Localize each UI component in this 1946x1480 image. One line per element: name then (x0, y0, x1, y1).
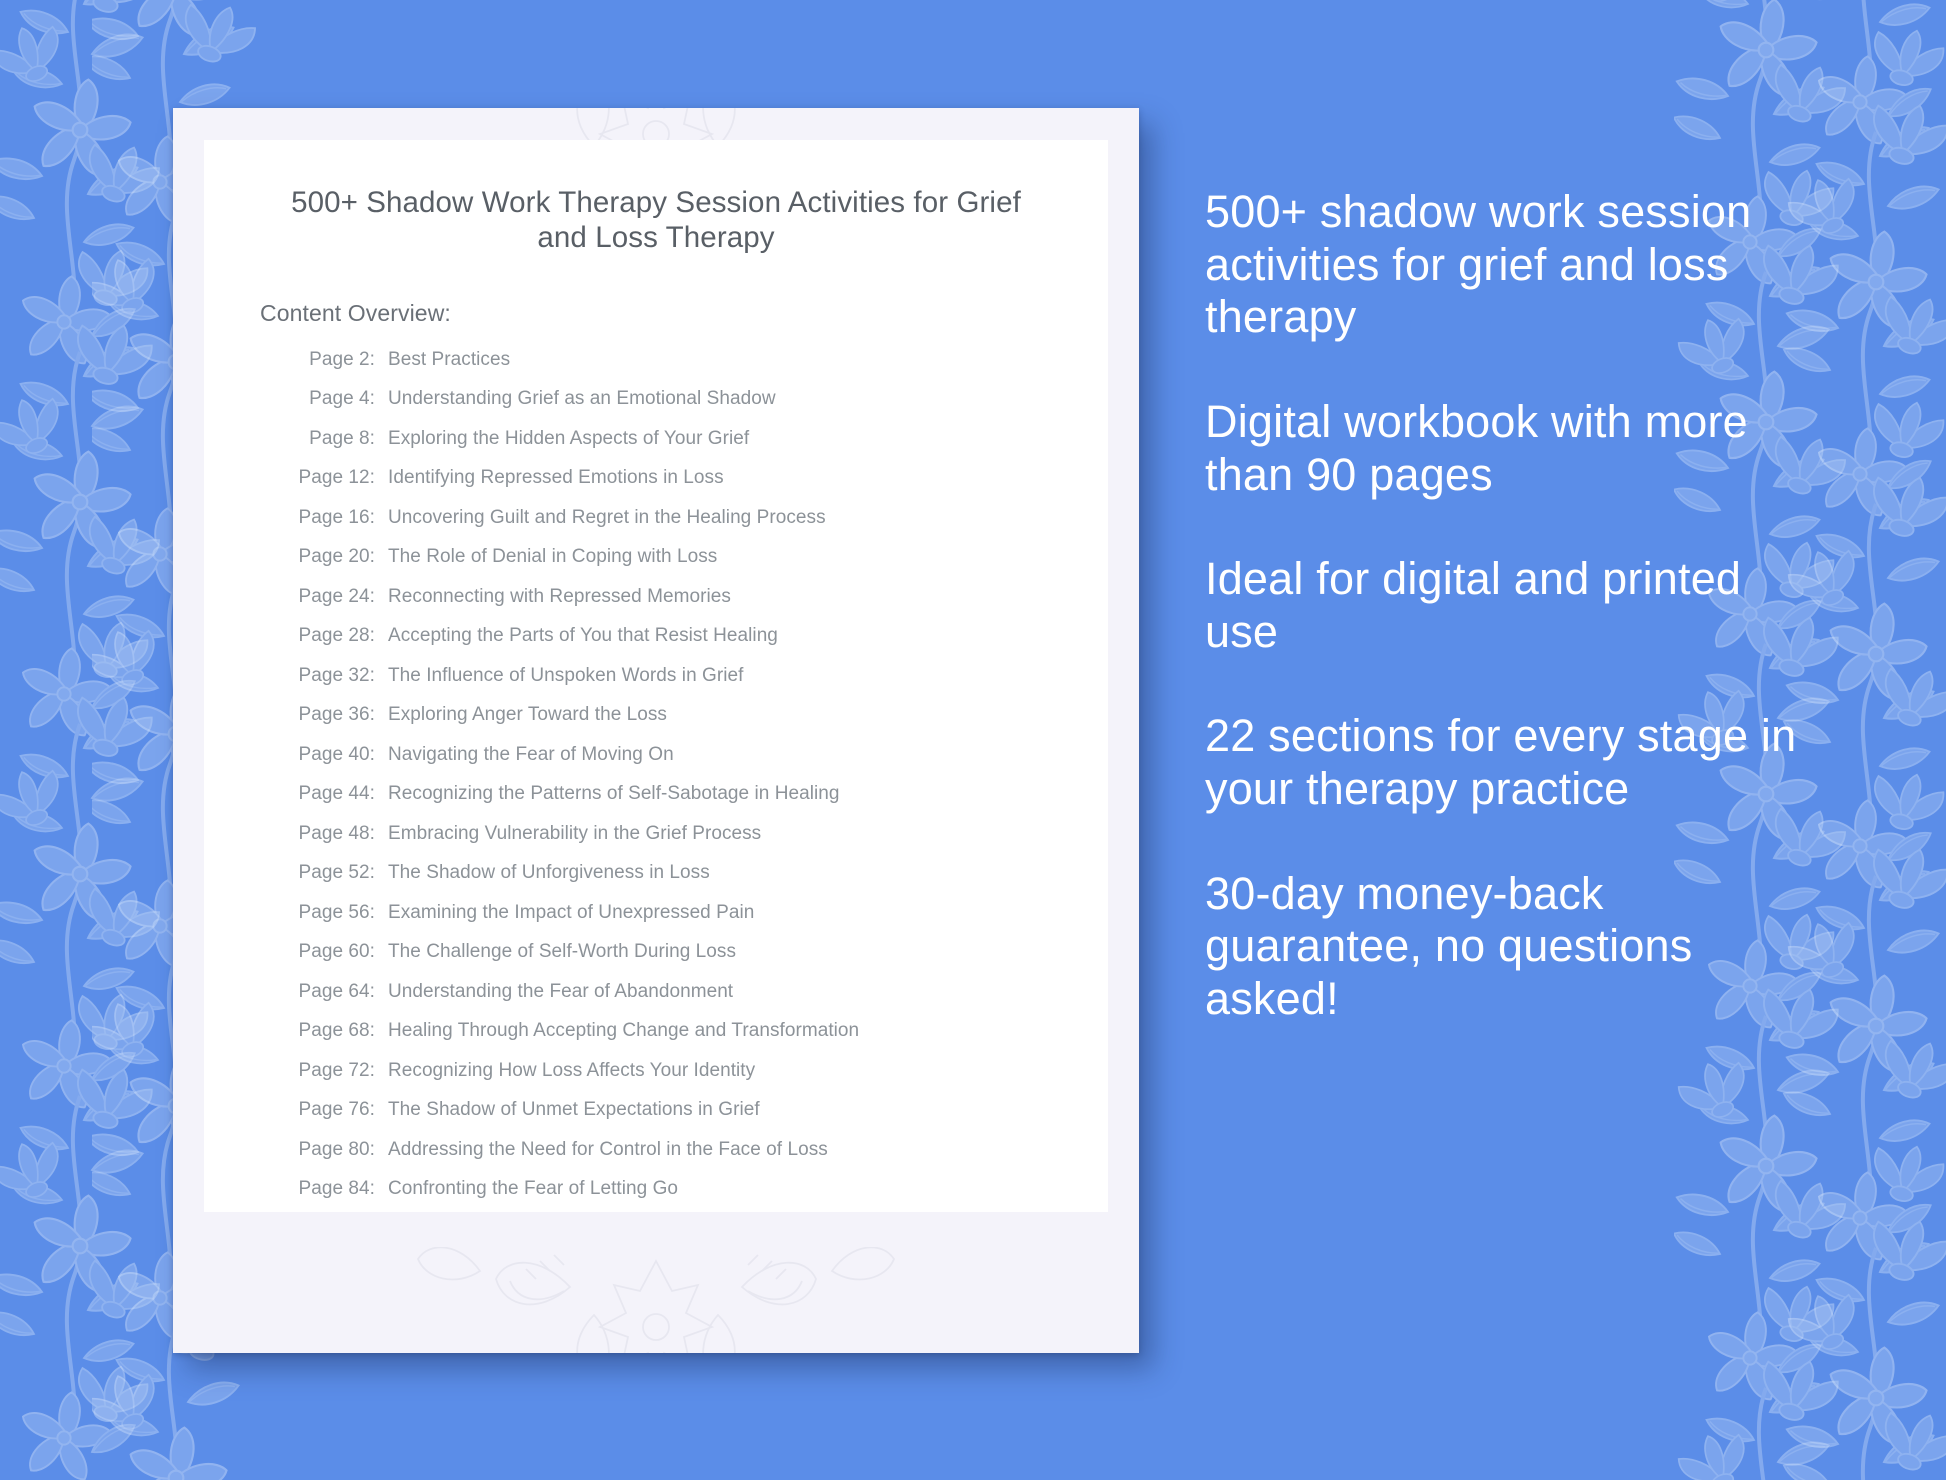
toc-entry: Page 20:The Role of Denial in Coping wit… (290, 546, 1108, 586)
toc-entry: Page 32:The Influence of Unspoken Words … (290, 665, 1108, 705)
toc-entry: Page 40:Navigating the Fear of Moving On (290, 744, 1108, 784)
toc-entry: Page 36:Exploring Anger Toward the Loss (290, 704, 1108, 744)
toc-entry-title: The Influence of Unspoken Words in Grief (375, 665, 743, 687)
toc-entry-title: Examining the Impact of Unexpressed Pain (375, 902, 754, 924)
toc-entry-title: The Shadow of Unforgiveness in Loss (375, 862, 710, 884)
toc-entry-page: Page 2: (290, 349, 375, 371)
toc-entry: Page 80:Addressing the Need for Control … (290, 1139, 1108, 1179)
toc-entry-title: Uncovering Guilt and Regret in the Heali… (375, 507, 826, 529)
toc-entry-page: Page 56: (290, 902, 375, 924)
toc-entry-title: Recognizing How Loss Affects Your Identi… (375, 1060, 755, 1082)
toc-entry-title: Reconnecting with Repressed Memories (375, 586, 731, 608)
toc-entry-title: Best Practices (375, 349, 510, 371)
marketing-block: 30-day money-back guarantee, no question… (1205, 868, 1825, 1026)
toc-entry: Page 8:Exploring the Hidden Aspects of Y… (290, 428, 1108, 468)
toc-entry: Page 60:The Challenge of Self-Worth Duri… (290, 941, 1108, 981)
marketing-block: Digital workbook with more than 90 pages (1205, 396, 1825, 501)
toc-entry-title: Understanding the Fear of Abandonment (375, 981, 733, 1003)
toc-entry-page: Page 32: (290, 665, 375, 687)
toc-entry-page: Page 24: (290, 586, 375, 608)
toc-entry-title: Exploring Anger Toward the Loss (375, 704, 667, 726)
toc-entry-title: Exploring the Hidden Aspects of Your Gri… (375, 428, 749, 450)
toc-entry: Page 2:Best Practices (290, 349, 1108, 389)
content-overview-label: Content Overview: (204, 256, 1108, 327)
toc-entry-title: The Challenge of Self-Worth During Loss (375, 941, 736, 963)
marketing-block: Ideal for digital and printed use (1205, 553, 1825, 658)
toc-entry-page: Page 68: (290, 1020, 375, 1042)
toc-entry-page: Page 60: (290, 941, 375, 963)
toc-entry-page: Page 72: (290, 1060, 375, 1082)
toc-entry: Page 68:Healing Through Accepting Change… (290, 1020, 1108, 1060)
toc-entry-page: Page 16: (290, 507, 375, 529)
toc-entry-page: Page 64: (290, 981, 375, 1003)
toc-entry: Page 84:Confronting the Fear of Letting … (290, 1178, 1108, 1212)
toc-entry: Page 72:Recognizing How Loss Affects You… (290, 1060, 1108, 1100)
page-title: 500+ Shadow Work Therapy Session Activit… (204, 140, 1108, 256)
toc-entry-page: Page 8: (290, 428, 375, 450)
toc-entry: Page 44:Recognizing the Patterns of Self… (290, 783, 1108, 823)
toc-entry: Page 64:Understanding the Fear of Abando… (290, 981, 1108, 1021)
toc-entry: Page 76:The Shadow of Unmet Expectations… (290, 1099, 1108, 1139)
toc-entry-page: Page 36: (290, 704, 375, 726)
toc-entry: Page 12:Identifying Repressed Emotions i… (290, 467, 1108, 507)
toc-entry-page: Page 48: (290, 823, 375, 845)
toc-entry-page: Page 12: (290, 467, 375, 489)
toc-entry: Page 52:The Shadow of Unforgiveness in L… (290, 862, 1108, 902)
toc-entry-title: Accepting the Parts of You that Resist H… (375, 625, 778, 647)
toc-entry: Page 56:Examining the Impact of Unexpres… (290, 902, 1108, 942)
toc-entry-title: Recognizing the Patterns of Self-Sabotag… (375, 783, 840, 805)
toc-entry: Page 48:Embracing Vulnerability in the G… (290, 823, 1108, 863)
toc-entry-title: Confronting the Fear of Letting Go (375, 1178, 678, 1200)
toc-entry-title: Navigating the Fear of Moving On (375, 744, 674, 766)
toc-entry-page: Page 20: (290, 546, 375, 568)
toc-entry-title: The Shadow of Unmet Expectations in Grie… (375, 1099, 760, 1121)
mandala-watermark-icon (346, 1247, 966, 1353)
toc-entry-page: Page 28: (290, 625, 375, 647)
table-of-contents: Page 2:Best PracticesPage 4:Understandin… (204, 327, 1108, 1212)
toc-entry: Page 16:Uncovering Guilt and Regret in t… (290, 507, 1108, 547)
toc-entry: Page 28:Accepting the Parts of You that … (290, 625, 1108, 665)
toc-entry-page: Page 4: (290, 388, 375, 410)
toc-entry-page: Page 44: (290, 783, 375, 805)
toc-entry-title: Embracing Vulnerability in the Grief Pro… (375, 823, 761, 845)
toc-entry-page: Page 76: (290, 1099, 375, 1121)
toc-entry-title: The Role of Denial in Coping with Loss (375, 546, 717, 568)
marketing-block: 500+ shadow work session activities for … (1205, 186, 1825, 344)
toc-entry-page: Page 80: (290, 1139, 375, 1161)
toc-entry-title: Addressing the Need for Control in the F… (375, 1139, 828, 1161)
toc-entry: Page 4:Understanding Grief as an Emotion… (290, 388, 1108, 428)
toc-entry-title: Understanding Grief as an Emotional Shad… (375, 388, 776, 410)
document-preview-card: 500+ Shadow Work Therapy Session Activit… (173, 108, 1139, 1353)
toc-entry-title: Healing Through Accepting Change and Tra… (375, 1020, 859, 1042)
toc-entry-page: Page 84: (290, 1178, 375, 1200)
marketing-block: 22 sections for every stage in your ther… (1205, 710, 1825, 815)
toc-entry-page: Page 52: (290, 862, 375, 884)
toc-entry-title: Identifying Repressed Emotions in Loss (375, 467, 724, 489)
marketing-copy: 500+ shadow work session activities for … (1205, 186, 1825, 1026)
toc-entry: Page 24:Reconnecting with Repressed Memo… (290, 586, 1108, 626)
document-page: 500+ Shadow Work Therapy Session Activit… (204, 140, 1108, 1212)
toc-entry-page: Page 40: (290, 744, 375, 766)
